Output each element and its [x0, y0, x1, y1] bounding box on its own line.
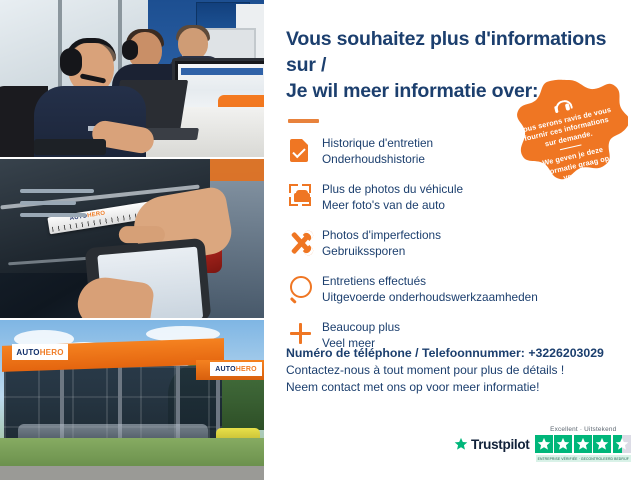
- feature-labels: Beaucoup plus Veel meer: [322, 319, 400, 351]
- feature-label-fr: Photos d'imperfections: [322, 228, 441, 242]
- feature-label-nl: Meer foto's van de auto: [322, 198, 445, 212]
- trustpilot-logo: Trustpilot: [454, 437, 530, 452]
- car-scan-icon: [286, 181, 316, 215]
- magnifier-icon: [286, 273, 316, 307]
- feature-label-nl: Veel meer: [322, 336, 375, 350]
- vehicle-inspection-photo: AUTOHERO: [0, 159, 264, 320]
- star-filled-icon: [593, 435, 611, 453]
- autohero-dealership-photo: AUTOHERO AUTOHERO: [0, 320, 264, 480]
- star-filled-icon: [554, 435, 572, 453]
- trustpilot-badge[interactable]: Trustpilot Excellent · Uitstekend: [454, 426, 632, 462]
- star-rating: [535, 435, 633, 453]
- contact-line-fr: Contactez-nous à tout moment pour plus d…: [286, 362, 640, 379]
- document-check-icon: [286, 135, 316, 169]
- star-filled-icon: [574, 435, 592, 453]
- star-half-icon: [613, 435, 631, 453]
- feature-labels: Entretiens effectués Uitgevoerde onderho…: [322, 273, 538, 305]
- list-item: Plus de photos du véhicule Meer foto's v…: [286, 181, 618, 215]
- contact-line-nl: Neem contact met ons op voor meer inform…: [286, 379, 640, 396]
- autohero-sign-left: AUTOHERO: [12, 344, 68, 360]
- feature-label-fr: Beaucoup plus: [322, 320, 400, 334]
- feature-label-nl: Onderhoudshistorie: [322, 152, 425, 166]
- feature-label-fr: Entretiens effectués: [322, 274, 426, 288]
- feature-label-fr: Historique d'entretien: [322, 136, 433, 150]
- list-item: Entretiens effectués Uitgevoerde onderho…: [286, 273, 618, 307]
- infographic-page: AUTOHERO: [0, 0, 640, 480]
- headline-line-fr: Vous souhaitez plus d'informations sur /: [286, 28, 606, 76]
- trustpilot-star-icon: [454, 437, 468, 451]
- star-filled-icon: [535, 435, 553, 453]
- feature-list: Historique d'entretien Onderhoudshistori…: [286, 135, 618, 353]
- list-item: Photos d'imperfections Gebruikssporen: [286, 227, 618, 261]
- feature-labels: Historique d'entretien Onderhoudshistori…: [322, 135, 433, 167]
- plus-icon: [286, 319, 316, 353]
- list-item: Beaucoup plus Veel meer: [286, 319, 618, 353]
- title-underline: [288, 119, 319, 123]
- content-panel: Vous souhaitez plus d'informations sur /…: [264, 0, 640, 480]
- rating-label: Excellent · Uitstekend: [550, 426, 616, 433]
- autohero-sign-right: AUTOHERO: [210, 362, 262, 376]
- list-item: Historique d'entretien Onderhoudshistori…: [286, 135, 618, 169]
- trustpilot-rating: Excellent · Uitstekend: [535, 426, 633, 462]
- feature-label-nl: Gebruikssporen: [322, 244, 405, 258]
- tools-icon: [286, 227, 316, 261]
- trustpilot-brand: Trustpilot: [471, 437, 530, 452]
- photo-column: AUTOHERO: [0, 0, 264, 480]
- verified-note-text: ENTREPRISE VÉRIFIÉE · GECONTROLEERD BEDR…: [538, 457, 629, 461]
- feature-labels: Photos d'imperfections Gebruikssporen: [322, 227, 441, 259]
- feature-label-fr: Plus de photos du véhicule: [322, 182, 463, 196]
- call-center-photo: [0, 0, 264, 159]
- headset-icon: [553, 99, 570, 113]
- feature-labels: Plus de photos du véhicule Meer foto's v…: [322, 181, 463, 213]
- feature-label-nl: Uitgevoerde onderhoudswerkzaamheden: [322, 290, 538, 304]
- verified-note: ENTREPRISE VÉRIFIÉE · GECONTROLEERD BEDR…: [536, 455, 631, 462]
